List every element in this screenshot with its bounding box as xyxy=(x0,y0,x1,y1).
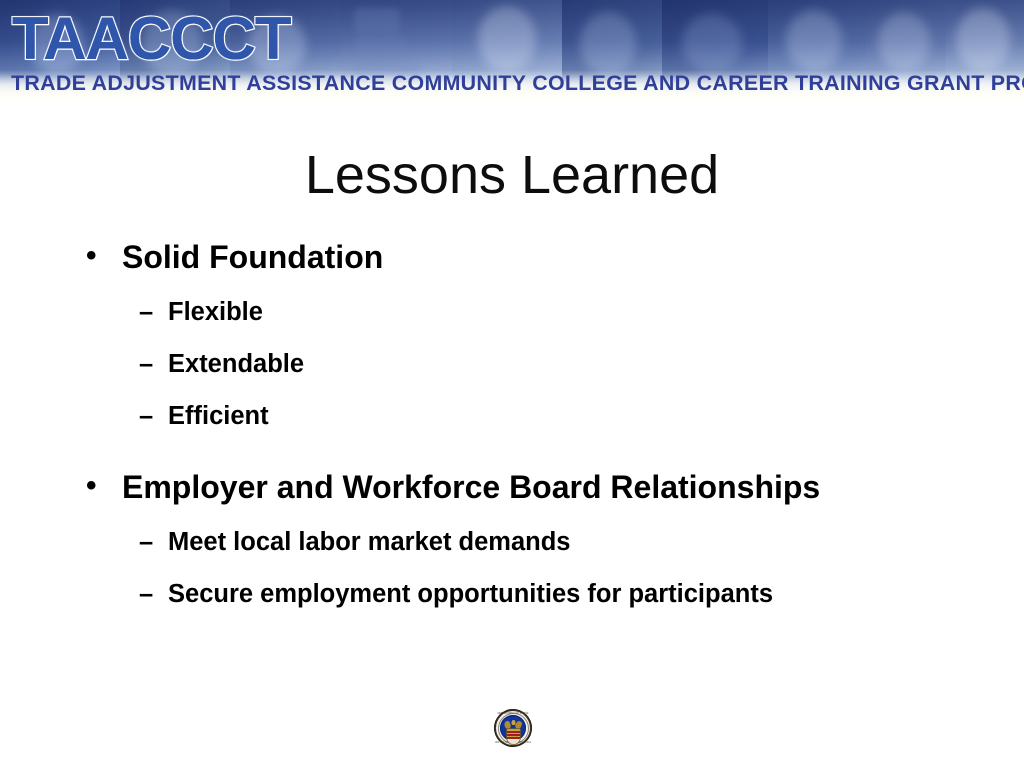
bullet-level2-extendable: – Extendable xyxy=(78,349,978,380)
bullet-level1-label: Employer and Workforce Board Relationshi… xyxy=(122,469,820,505)
bullet-level2-label: Secure employment opportunities for part… xyxy=(168,580,773,608)
bullet-marker-dash: – xyxy=(139,579,153,610)
shield-lower-field xyxy=(507,739,520,744)
bullet-level2-secure-employment: – Secure employment opportunities for pa… xyxy=(78,579,778,610)
bullet-level2-meet-local-labor: – Meet local labor market demands xyxy=(78,527,978,558)
bullet-level1-solid-foundation: • Solid Foundation xyxy=(78,238,978,276)
bullet-marker-dot: • xyxy=(86,467,97,505)
taaccct-header-banner: TAACCCT TAACCCT TRADE ADJUSTMENT ASSISTA… xyxy=(0,0,1024,104)
bullet-level2-label: Extendable xyxy=(168,350,304,378)
bullet-level2-efficient: – Efficient xyxy=(78,401,978,432)
bullet-marker-dot: • xyxy=(86,237,97,275)
bullet-marker-dash: – xyxy=(139,401,153,432)
taaccct-wordmark: TAACCCT xyxy=(12,8,291,70)
bullet-level1-employer-workforce: • Employer and Workforce Board Relations… xyxy=(78,468,978,506)
bullet-marker-dash: – xyxy=(139,297,153,328)
bullet-level1-label: Solid Foundation xyxy=(122,239,383,275)
shield-icon xyxy=(507,729,520,744)
slide-body: • Solid Foundation – Flexible – Extendab… xyxy=(78,238,978,610)
bullet-level2-label: Flexible xyxy=(168,298,263,326)
page-title: Lessons Learned xyxy=(0,144,1024,206)
shield-band xyxy=(507,734,520,736)
bullet-level2-label: Efficient xyxy=(168,402,269,430)
seal-blue-field xyxy=(500,715,526,741)
bullet-marker-dash: – xyxy=(139,527,153,558)
presentation-slide: TAACCCT TAACCCT TRADE ADJUSTMENT ASSISTA… xyxy=(0,0,1024,768)
bullet-marker-dash: – xyxy=(139,349,153,380)
bullet-group-spacer xyxy=(78,432,978,454)
shield-band xyxy=(507,731,520,733)
banner-subtitle: TRADE ADJUSTMENT ASSISTANCE COMMUNITY CO… xyxy=(11,71,1010,95)
bullet-level2-label: Meet local labor market demands xyxy=(168,528,570,556)
us-department-of-labor-seal-icon: DEPARTMENT OF LABOR UNITED STATES OF AME… xyxy=(494,709,532,747)
eagle-head xyxy=(511,720,515,725)
bullet-level2-flexible: – Flexible xyxy=(78,297,978,328)
